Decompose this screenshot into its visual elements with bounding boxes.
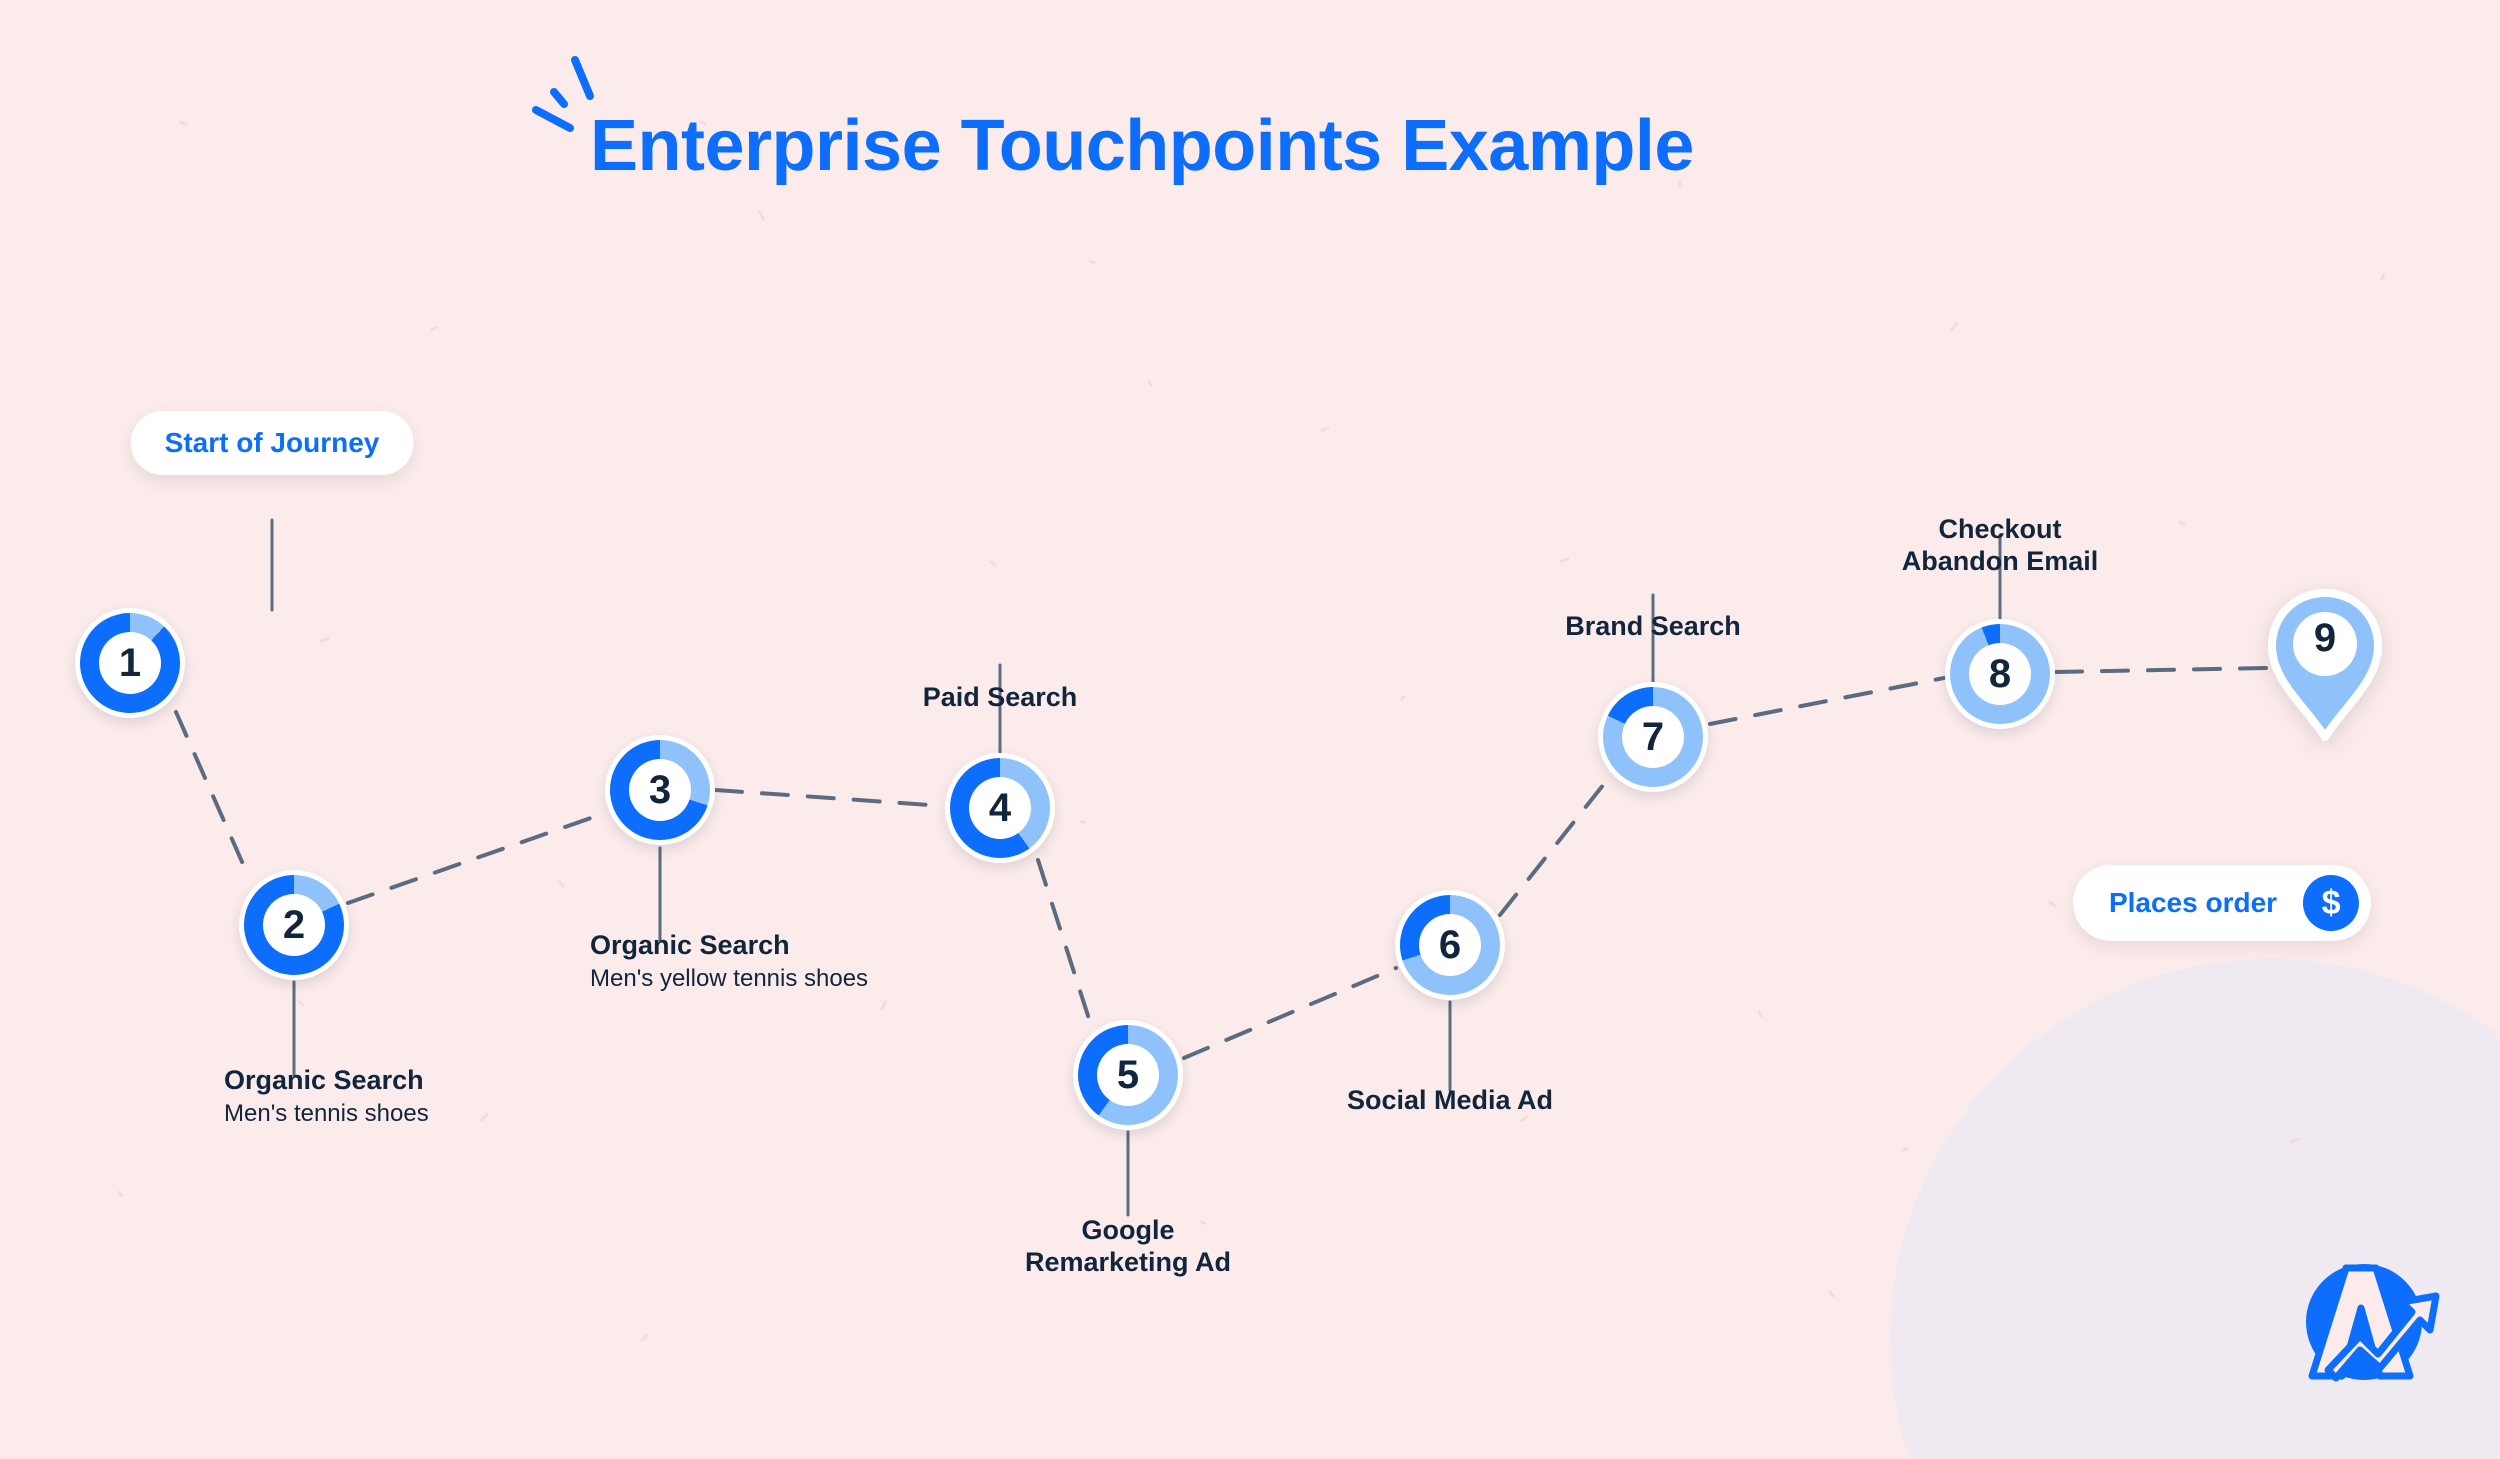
- journey-node-label-title-8: Checkout Abandon Email: [1902, 514, 2099, 578]
- journey-node-ring-6: 6: [1395, 890, 1505, 1000]
- places-order-badge[interactable]: Places order $: [2073, 865, 2371, 941]
- journey-node-label-sub-3: Men's yellow tennis shoes: [590, 965, 868, 993]
- journey-node-ring-4: 4: [945, 753, 1055, 863]
- journey-node-center-8: 8: [1969, 643, 2031, 705]
- journey-node-1[interactable]: 1: [75, 608, 185, 718]
- journey-node-center-3: 3: [629, 759, 691, 821]
- journey-node-label-title-4: Paid Search: [923, 682, 1078, 714]
- journey-node-9[interactable]: 9: [2266, 589, 2384, 741]
- start-of-journey-label: Start of Journey: [165, 427, 380, 459]
- journey-node-number-7: 7: [1642, 717, 1664, 757]
- infographic-canvas: Enterprise Touchpoints Example: [0, 0, 2500, 1459]
- journey-node-label-5: Google Remarketing Ad: [1025, 1215, 1231, 1279]
- journey-node-ring-7: 7: [1598, 682, 1708, 792]
- a-arrow-logo-icon: [2290, 1250, 2450, 1405]
- journey-node-number-1: 1: [119, 643, 141, 683]
- journey-node-5[interactable]: 5: [1073, 1020, 1183, 1130]
- journey-node-ring-5: 5: [1073, 1020, 1183, 1130]
- journey-node-4[interactable]: 4: [945, 753, 1055, 863]
- journey-node-center-7: 7: [1622, 706, 1684, 768]
- journey-node-center-1: 1: [99, 632, 161, 694]
- page-title-wrap: Enterprise Touchpoints Example: [590, 110, 1694, 182]
- journey-node-ring-1: 1: [75, 608, 185, 718]
- journey-node-label-sub-2: Men's tennis shoes: [224, 1100, 429, 1128]
- journey-node-label-title-3: Organic Search: [590, 930, 868, 962]
- journey-node-label-7: Brand Search: [1565, 611, 1741, 643]
- journey-node-label-2: Organic SearchMen's tennis shoes: [224, 1065, 429, 1128]
- journey-node-number-4: 4: [989, 788, 1011, 828]
- journey-node-number-9: 9: [2314, 618, 2336, 658]
- journey-node-6[interactable]: 6: [1395, 890, 1505, 1000]
- places-order-label: Places order: [2109, 887, 2277, 919]
- journey-node-label-title-7: Brand Search: [1565, 611, 1741, 643]
- journey-node-7[interactable]: 7: [1598, 682, 1708, 792]
- journey-node-label-8: Checkout Abandon Email: [1902, 514, 2099, 578]
- start-of-journey-badge[interactable]: Start of Journey: [131, 411, 414, 475]
- journey-node-8[interactable]: 8: [1945, 619, 2055, 729]
- journey-node-ring-2: 2: [239, 870, 349, 980]
- journey-node-label-title-6: Social Media Ad: [1347, 1085, 1553, 1117]
- journey-node-center-6: 6: [1419, 914, 1481, 976]
- journey-node-2[interactable]: 2: [239, 870, 349, 980]
- journey-node-label-6: Social Media Ad: [1347, 1085, 1553, 1117]
- page-title: Enterprise Touchpoints Example: [590, 110, 1694, 182]
- dollar-icon: $: [2303, 875, 2359, 931]
- journey-node-center-5: 5: [1097, 1044, 1159, 1106]
- journey-node-number-3: 3: [649, 770, 671, 810]
- journey-node-label-title-2: Organic Search: [224, 1065, 429, 1097]
- journey-node-number-2: 2: [283, 905, 305, 945]
- journey-node-ring-3: 3: [605, 735, 715, 845]
- journey-node-ring-8: 8: [1945, 619, 2055, 729]
- journey-node-label-4: Paid Search: [923, 682, 1078, 714]
- title-accent-lines-icon: [528, 48, 638, 138]
- journey-node-label-3: Organic SearchMen's yellow tennis shoes: [590, 930, 868, 993]
- journey-node-center-4: 4: [969, 777, 1031, 839]
- journey-node-number-6: 6: [1439, 925, 1461, 965]
- journey-node-center-2: 2: [263, 894, 325, 956]
- journey-node-number-8: 8: [1989, 654, 2011, 694]
- journey-node-3[interactable]: 3: [605, 735, 715, 845]
- journey-node-number-5: 5: [1117, 1055, 1139, 1095]
- journey-node-label-title-5: Google Remarketing Ad: [1025, 1215, 1231, 1279]
